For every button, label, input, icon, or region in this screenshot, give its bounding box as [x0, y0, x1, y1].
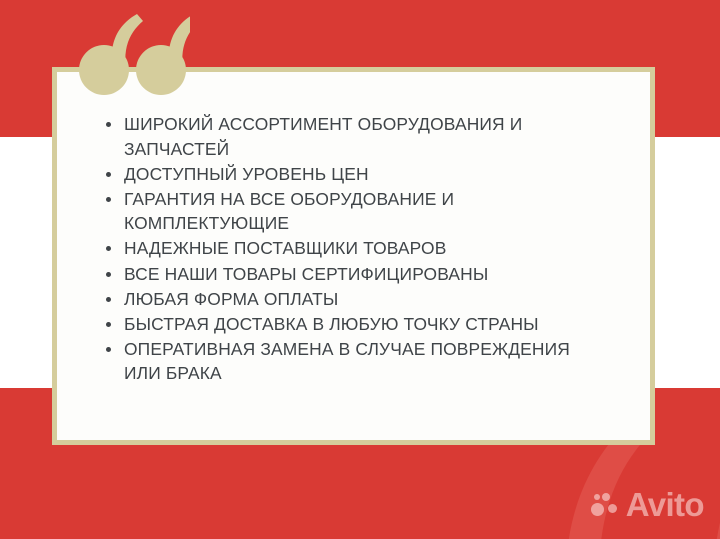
avito-watermark: Avito	[591, 488, 704, 521]
list-item: ЛЮБАЯ ФОРМА ОПЛАТЫ	[101, 287, 632, 312]
list-item: ВСЕ НАШИ ТОВАРЫ СЕРТИФИЦИРОВАНЫ	[101, 262, 632, 287]
list-item: ГАРАНТИЯ НА ВСЕ ОБОРУДОВАНИЕ И КОМПЛЕКТУ…	[101, 187, 632, 236]
poster-canvas: ШИРОКИЙ АССОРТИМЕНТ ОБОРУДОВАНИЯ И ЗАПЧА…	[0, 0, 720, 539]
list-item: НАДЕЖНЫЕ ПОСТАВЩИКИ ТОВАРОВ	[101, 236, 632, 261]
list-item: ШИРОКИЙ АССОРТИМЕНТ ОБОРУДОВАНИЯ И ЗАПЧА…	[101, 112, 632, 161]
benefits-card: ШИРОКИЙ АССОРТИМЕНТ ОБОРУДОВАНИЯ И ЗАПЧА…	[52, 67, 655, 445]
list-item: ОПЕРАТИВНАЯ ЗАМЕНА В СЛУЧАЕ ПОВРЕЖДЕНИЯ …	[101, 337, 632, 386]
benefits-list: ШИРОКИЙ АССОРТИМЕНТ ОБОРУДОВАНИЯ И ЗАПЧА…	[101, 112, 632, 387]
list-item: ДОСТУПНЫЙ УРОВЕНЬ ЦЕН	[101, 162, 632, 187]
avito-wordmark: Avito	[626, 488, 704, 521]
list-item: БЫСТРАЯ ДОСТАВКА В ЛЮБУЮ ТОЧКУ СТРАНЫ	[101, 312, 632, 337]
avito-logo-icon	[591, 492, 619, 518]
card-inner-surface: ШИРОКИЙ АССОРТИМЕНТ ОБОРУДОВАНИЯ И ЗАПЧА…	[57, 72, 650, 440]
